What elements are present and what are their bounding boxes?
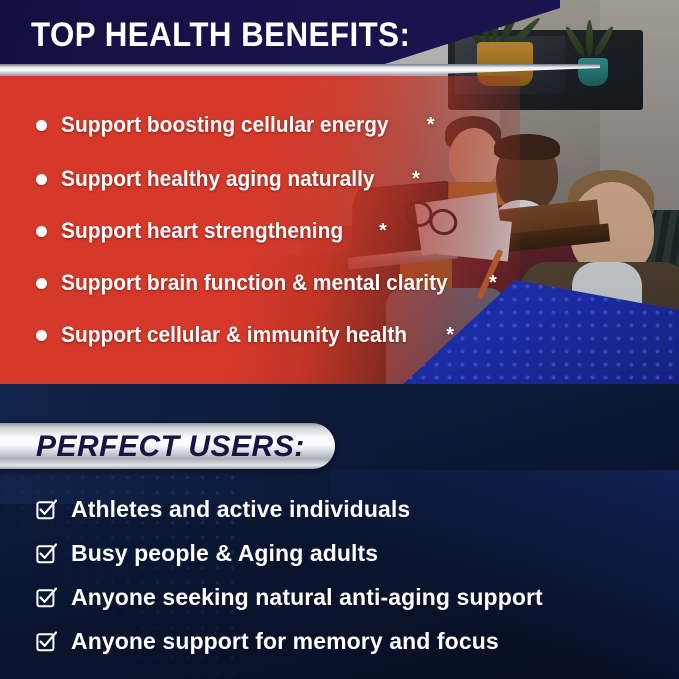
checkbox-check-icon [36, 587, 57, 608]
benefit-item: Support healthy aging naturally * [36, 166, 420, 192]
footnote-asterisk: * [489, 272, 497, 295]
dot-bullet-icon [36, 120, 47, 131]
dot-bullet-icon [36, 330, 47, 341]
user-label: Anyone support for memory and focus [71, 628, 499, 655]
promo-infographic: TOP HEALTH BENEFITS: Support boosting ce… [0, 0, 679, 679]
user-item: Athletes and active individuals [36, 496, 410, 523]
checkbox-check-icon [36, 631, 57, 652]
user-label: Anyone seeking natural anti-aging suppor… [71, 584, 543, 611]
benefit-item: Support cellular & immunity health * [36, 322, 454, 348]
footnote-asterisk: * [427, 114, 435, 137]
benefit-label: Support cellular & immunity health [61, 322, 407, 348]
benefit-item: Support boosting cellular energy * [36, 112, 435, 138]
benefit-item: Support heart strengthening * [36, 218, 387, 244]
checkbox-check-icon [36, 543, 57, 564]
dot-bullet-icon [36, 278, 47, 289]
user-item: Busy people & Aging adults [36, 540, 378, 567]
benefit-label: Support boosting cellular energy [61, 112, 388, 138]
users-section-title: PERFECT USERS: [36, 430, 305, 464]
user-item: Anyone support for memory and focus [36, 628, 499, 655]
checkbox-check-icon [36, 499, 57, 520]
dot-bullet-icon [36, 174, 47, 185]
benefit-label: Support healthy aging naturally [61, 166, 375, 192]
user-item: Anyone seeking natural anti-aging suppor… [36, 584, 543, 611]
user-label: Athletes and active individuals [71, 496, 410, 523]
footnote-asterisk: * [379, 220, 387, 243]
benefit-label: Support brain function & mental clarity [61, 270, 448, 296]
benefit-item: Support brain function & mental clarity … [36, 270, 497, 296]
user-label: Busy people & Aging adults [71, 540, 378, 567]
benefit-label: Support heart strengthening [61, 218, 343, 244]
dot-bullet-icon [36, 226, 47, 237]
footnote-asterisk: * [412, 168, 420, 191]
page-title: TOP HEALTH BENEFITS: [31, 16, 509, 55]
